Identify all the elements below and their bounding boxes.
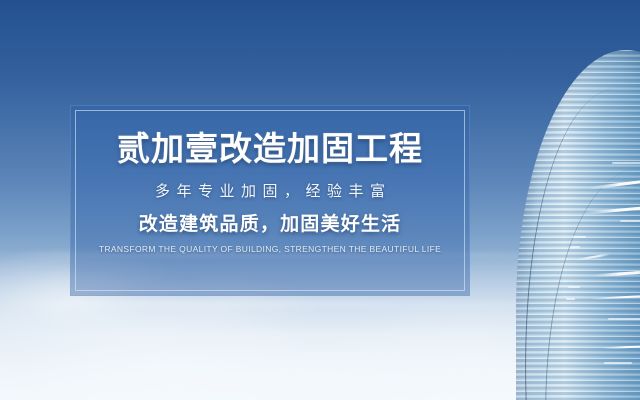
banner-english-tagline: TRANSFORM THE QUALITY OF BUILDING, STREN… <box>99 245 441 254</box>
banner-panel: 贰加壹改造加固工程 多年专业加固，经验丰富 改造建筑品质，加固美好生活 TRAN… <box>70 105 470 296</box>
banner-title: 贰加壹改造加固工程 <box>117 132 423 165</box>
banner-text-group: 贰加壹改造加固工程 多年专业加固，经验丰富 改造建筑品质，加固美好生活 TRAN… <box>70 105 470 296</box>
banner-slogan: 改造建筑品质，加固美好生活 <box>139 215 402 234</box>
banner-stage: 贰加壹改造加固工程 多年专业加固，经验丰富 改造建筑品质，加固美好生活 TRAN… <box>0 0 640 400</box>
banner-subtitle: 多年专业加固，经验丰富 <box>148 184 391 199</box>
